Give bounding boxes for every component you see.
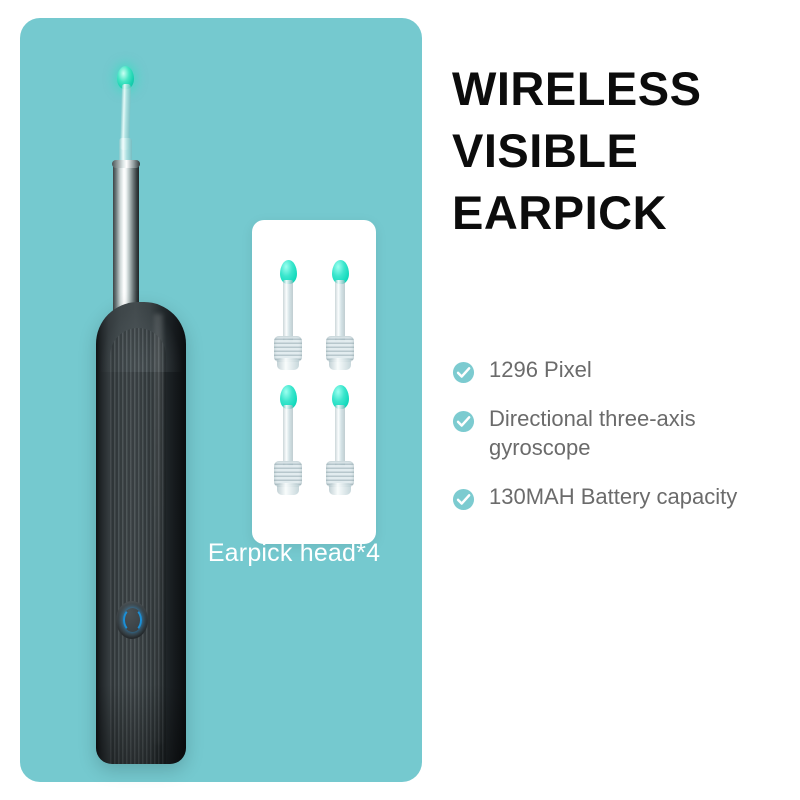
power-button-icon[interactable]: [116, 601, 148, 639]
check-circle-icon: [452, 488, 475, 511]
feature-item: 1296 Pixel: [452, 355, 782, 384]
earpick-head-base: [329, 483, 351, 495]
check-circle-icon: [452, 361, 475, 384]
accessory-caption: Earpick head*4: [160, 539, 428, 568]
feature-label: 1296 Pixel: [489, 355, 592, 384]
earpick-head-base: [277, 483, 299, 495]
earpick-head-stem: [283, 405, 293, 467]
earpick-head-icon: [271, 385, 305, 503]
chrome-collar: [112, 160, 140, 168]
earpick-head-base: [329, 358, 351, 370]
feature-item: Directional three-axis gyroscope: [452, 404, 782, 462]
earpick-head-icon: [271, 260, 305, 378]
content-column: WIRELESS VISIBLE EARPICK 1296 Pixel: [452, 0, 800, 800]
earpick-head-icon: [323, 260, 357, 378]
headline-line-3: EARPICK: [452, 182, 792, 244]
feature-list: 1296 Pixel Directional three-axis gyrosc…: [452, 355, 782, 531]
feature-item: 130MAH Battery capacity: [452, 482, 782, 511]
earpick-head-icon: [323, 385, 357, 503]
earpick-head-base: [277, 358, 299, 370]
check-circle-icon: [452, 410, 475, 433]
handle-bottom-shading: [96, 684, 186, 764]
earpick-heads-grid: [252, 220, 376, 544]
headline-line-1: WIRELESS: [452, 58, 792, 120]
product-marketing-image: Earpick head*4 WIRELESS VISIBLE EARPICK …: [0, 0, 800, 800]
earpick-head-stem: [283, 280, 293, 342]
accessory-card: [252, 220, 376, 544]
earpick-head-stem: [335, 405, 345, 467]
handle-highlight: [154, 314, 163, 744]
device-handle-icon: [96, 302, 186, 764]
chrome-barrel-icon: [113, 160, 139, 316]
feature-label: Directional three-axis gyroscope: [489, 404, 779, 462]
product-image-panel: [20, 18, 422, 782]
earpick-head-stem: [335, 280, 345, 342]
headline-line-2: VISIBLE: [452, 120, 792, 182]
feature-label: 130MAH Battery capacity: [489, 482, 737, 511]
page-title: WIRELESS VISIBLE EARPICK: [452, 58, 792, 244]
power-symbol-glyph: [123, 608, 142, 632]
